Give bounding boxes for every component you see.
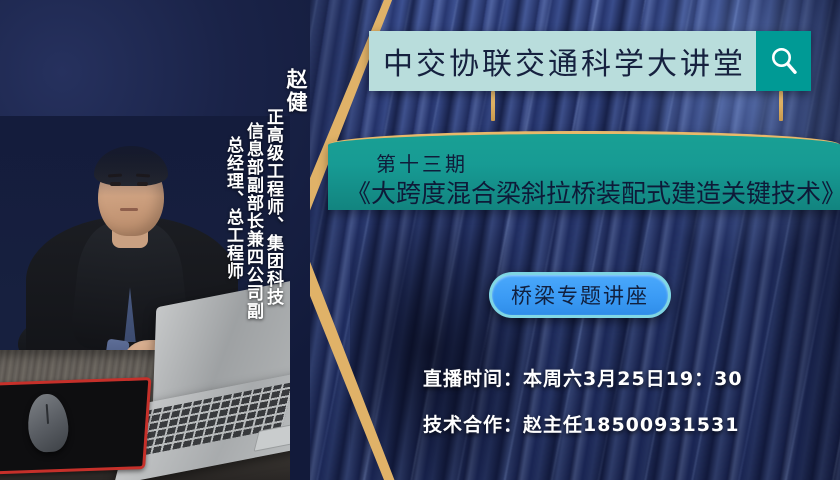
search-button[interactable]	[756, 31, 811, 91]
main-title-bar: 中交协联交通科学大讲堂	[369, 31, 811, 91]
poster-root: 赵健 正高级工程师、集团科技 信息部副部长兼四公司副 总经理、总工程师 中交协联…	[0, 0, 840, 480]
broadcast-time: 直播时间：本周六3月25日19：30	[423, 364, 743, 391]
speaker-credentials: 赵健 正高级工程师、集团科技 信息部副部长兼四公司副 总经理、总工程师	[225, 14, 306, 320]
speaker-title-line-1: 正高级工程师、集团科技	[265, 108, 282, 306]
banner-post-right	[779, 91, 783, 121]
speaker-title-line-3: 总经理、总工程师	[225, 136, 242, 280]
banner-post-left	[491, 91, 495, 121]
eye-right	[137, 182, 148, 186]
speaker-name: 赵健	[285, 68, 306, 114]
topic-title: 《大跨度混合梁斜拉桥装配式建造关键技术》	[346, 174, 840, 210]
speaker-title-line-2: 信息部副部长兼四公司副	[245, 122, 262, 320]
speaker-panel: 赵健 正高级工程师、集团科技 信息部副部长兼四公司副 总经理、总工程师	[0, 0, 310, 480]
subtitle-banner: 第十三期 《大跨度混合梁斜拉桥装配式建造关键技术》	[328, 131, 840, 210]
contact-info: 技术合作：赵主任18500931531	[423, 410, 739, 437]
category-badge-label: 桥梁专题讲座	[511, 280, 649, 310]
hair	[94, 146, 168, 186]
episode-label: 第十三期	[376, 148, 468, 177]
category-badge[interactable]: 桥梁专题讲座	[489, 272, 671, 318]
eye-left	[110, 182, 121, 186]
search-icon	[769, 46, 799, 77]
mouse-pad	[0, 377, 151, 475]
main-title-block: 中交协联交通科学大讲堂	[369, 31, 756, 91]
page-title: 中交协联交通科学大讲堂	[383, 39, 746, 83]
mouth	[120, 208, 138, 211]
